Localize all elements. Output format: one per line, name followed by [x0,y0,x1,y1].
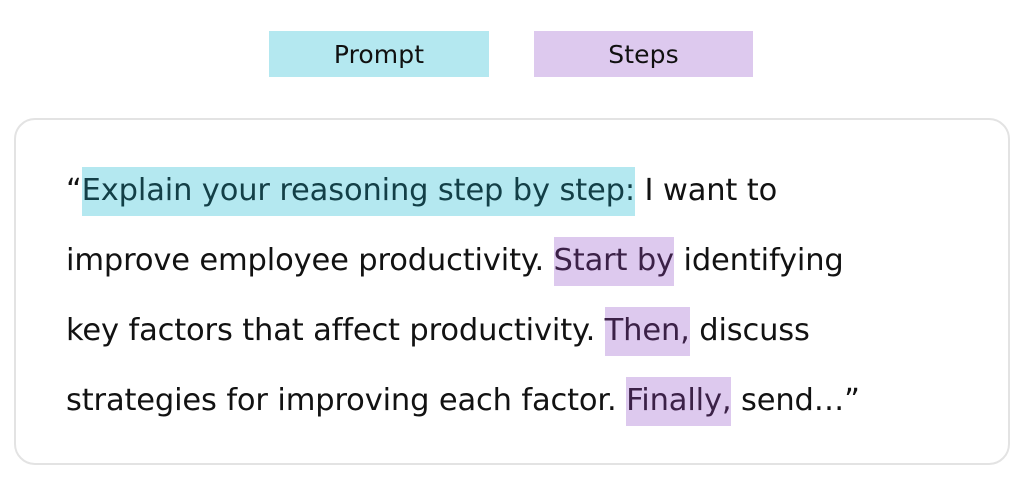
prompt-line-4: strategies for improving each factor. Fi… [66,366,978,436]
prompt-plain-3a: key factors that affect productivity. [66,313,605,348]
steps-highlight-2: Then, [605,307,690,356]
steps-highlight-1: Start by [554,237,674,286]
legend-chip-steps-label: Steps [608,42,678,67]
prompt-highlight-1: Explain your reasoning step by step: [82,167,635,216]
prompt-line-3: key factors that affect productivity. Th… [66,296,978,366]
legend-chip-prompt[interactable]: Prompt [269,31,489,77]
prompt-plain-4a: strategies for improving each factor. [66,383,626,418]
prompt-line-2: improve employee productivity. Start by … [66,226,978,296]
prompt-text: “Explain your reasoning step by step: I … [66,156,978,436]
prompt-plain-4b: send…” [731,383,859,418]
prompt-plain-3b: discuss [690,313,810,348]
prompt-plain-1: I want to [635,173,777,208]
steps-highlight-3: Finally, [626,377,731,426]
legend-chip-prompt-label: Prompt [334,42,424,67]
prompt-plain-2b: identifying [674,243,844,278]
opening-quote: “ [66,173,82,208]
legend-chip-steps[interactable]: Steps [534,31,753,77]
prompt-plain-2a: improve employee productivity. [66,243,554,278]
legend: Prompt Steps [0,31,1024,77]
prompt-card: “Explain your reasoning step by step: I … [14,118,1010,465]
prompt-line-1: “Explain your reasoning step by step: I … [66,156,978,226]
